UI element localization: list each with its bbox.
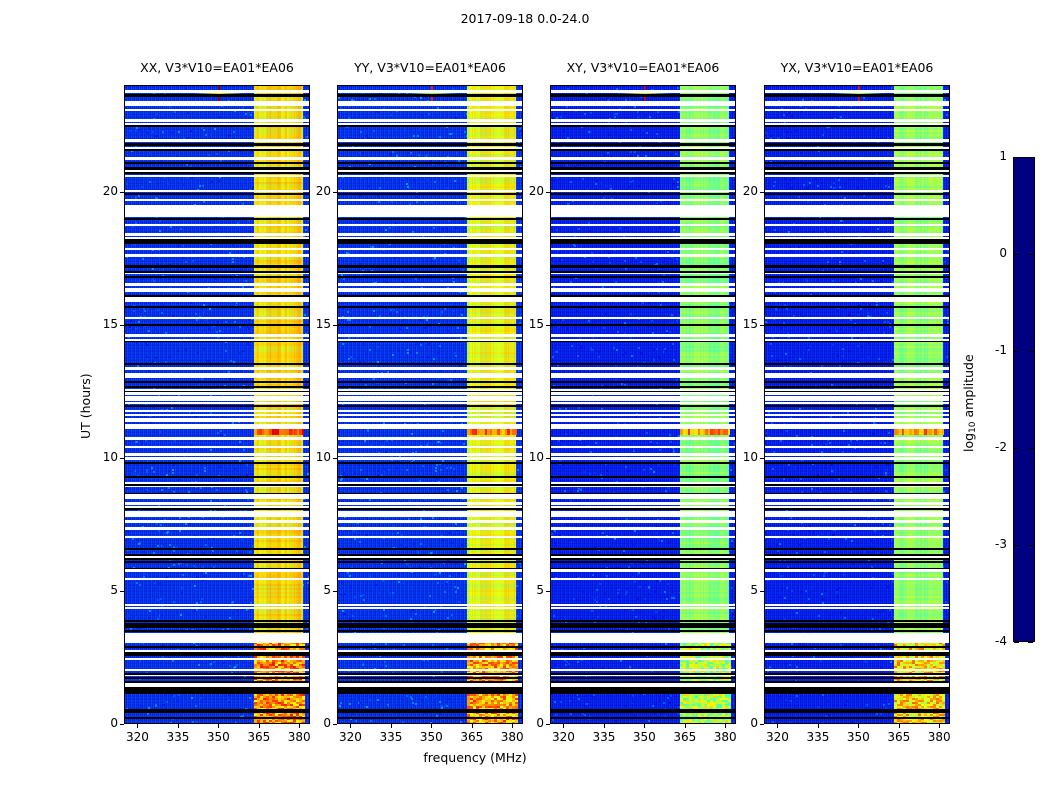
x-tick-mark [472, 724, 473, 728]
y-tick-mark [760, 325, 764, 326]
x-tick-mark [563, 724, 564, 728]
x-tick-mark [604, 724, 605, 728]
x-tick-mark [137, 724, 138, 728]
colorbar-tick-mark [1028, 448, 1033, 449]
y-tick-label: 10 [724, 450, 758, 464]
y-tick-label: 5 [724, 583, 758, 597]
x-tick-label: 350 [411, 730, 451, 744]
y-tick-label: 15 [84, 317, 118, 331]
x-tick-label: 320 [757, 730, 797, 744]
colorbar[interactable] [1013, 157, 1035, 642]
y-tick-label: 20 [297, 184, 331, 198]
spectrum-panel-yy[interactable] [337, 85, 523, 724]
y-tick-label: 10 [510, 450, 544, 464]
y-tick-label: 10 [297, 450, 331, 464]
y-tick-label: 20 [510, 184, 544, 198]
colorbar-gradient [1014, 158, 1034, 641]
y-tick-label: 15 [297, 317, 331, 331]
figure-canvas: 2017-09-18 0.0-24.0 XX, V3*V10=EA01*EA06… [0, 0, 1050, 800]
y-axis-label: UT (hours) [78, 373, 93, 439]
x-tick-mark [218, 724, 219, 728]
flagged-scan-rows [125, 86, 309, 723]
y-tick-mark [333, 724, 337, 725]
colorbar-tick-mark [1028, 254, 1033, 255]
x-axis-label: frequency (MHz) [0, 750, 950, 765]
y-tick-mark [546, 458, 550, 459]
y-tick-label: 5 [297, 583, 331, 597]
y-tick-mark [120, 192, 124, 193]
y-tick-mark [546, 325, 550, 326]
x-tick-label: 320 [117, 730, 157, 744]
x-tick-label: 380 [705, 730, 745, 744]
panel-title-yx: YX, V3*V10=EA01*EA06 [734, 60, 980, 78]
y-tick-mark [546, 591, 550, 592]
colorbar-tick-mark [1028, 545, 1033, 546]
x-tick-mark [259, 724, 260, 728]
x-tick-mark [858, 724, 859, 728]
colorbar-tick-label: -1 [977, 343, 1007, 357]
y-tick-label: 15 [724, 317, 758, 331]
x-tick-label: 335 [371, 730, 411, 744]
y-tick-label: 10 [84, 450, 118, 464]
y-tick-mark [333, 325, 337, 326]
spectrum-panel-xy[interactable] [550, 85, 736, 724]
x-tick-label: 380 [279, 730, 319, 744]
x-tick-label: 335 [584, 730, 624, 744]
x-tick-label: 350 [198, 730, 238, 744]
y-tick-label: 0 [84, 716, 118, 730]
y-tick-mark [120, 325, 124, 326]
y-tick-mark [333, 591, 337, 592]
spectrum-panel-xx[interactable] [124, 85, 310, 724]
colorbar-tick-mark [1014, 642, 1019, 643]
y-tick-mark [546, 192, 550, 193]
colorbar-tick-label: -2 [977, 440, 1007, 454]
x-tick-label: 365 [665, 730, 705, 744]
x-tick-mark [685, 724, 686, 728]
x-tick-mark [644, 724, 645, 728]
y-tick-label: 20 [724, 184, 758, 198]
colorbar-tick-label: 1 [977, 149, 1007, 163]
y-tick-mark [760, 458, 764, 459]
x-tick-label: 350 [838, 730, 878, 744]
colorbar-tick-mark [1014, 351, 1019, 352]
y-tick-mark [120, 591, 124, 592]
x-tick-mark [899, 724, 900, 728]
x-tick-mark [350, 724, 351, 728]
colorbar-tick-mark [1028, 351, 1033, 352]
x-tick-label: 350 [624, 730, 664, 744]
x-tick-label: 380 [919, 730, 959, 744]
panel-title-xx: XX, V3*V10=EA01*EA06 [94, 60, 340, 78]
y-tick-mark [120, 458, 124, 459]
figure-suptitle: 2017-09-18 0.0-24.0 [0, 11, 1050, 26]
y-tick-mark [760, 724, 764, 725]
colorbar-tick-label: -4 [977, 634, 1007, 648]
y-tick-mark [120, 724, 124, 725]
y-tick-label: 0 [297, 716, 331, 730]
y-tick-mark [760, 192, 764, 193]
colorbar-tick-label: -3 [977, 537, 1007, 551]
x-tick-mark [391, 724, 392, 728]
colorbar-tick-mark [1014, 545, 1019, 546]
colorbar-tick-mark [1014, 254, 1019, 255]
flagged-scan-rows [338, 86, 522, 723]
x-tick-label: 380 [492, 730, 532, 744]
x-tick-label: 335 [798, 730, 838, 744]
flagged-scan-rows [551, 86, 735, 723]
x-tick-mark [777, 724, 778, 728]
colorbar-label-subscript: 10 [968, 421, 978, 432]
y-tick-mark [333, 458, 337, 459]
colorbar-tick-mark [1014, 448, 1019, 449]
x-tick-mark [431, 724, 432, 728]
y-tick-label: 20 [84, 184, 118, 198]
colorbar-label-prefix: log [961, 432, 976, 451]
flagged-scan-rows [765, 86, 949, 723]
y-tick-mark [760, 591, 764, 592]
y-tick-label: 15 [510, 317, 544, 331]
x-tick-label: 335 [158, 730, 198, 744]
x-tick-mark [178, 724, 179, 728]
panel-title-xy: XY, V3*V10=EA01*EA06 [520, 60, 766, 78]
panel-title-yy: YY, V3*V10=EA01*EA06 [307, 60, 553, 78]
spectrum-panel-yx[interactable] [764, 85, 950, 724]
x-tick-mark [939, 724, 940, 728]
x-tick-label: 365 [452, 730, 492, 744]
x-tick-mark [818, 724, 819, 728]
y-tick-label: 5 [84, 583, 118, 597]
x-tick-label: 320 [330, 730, 370, 744]
y-tick-mark [333, 192, 337, 193]
x-tick-label: 365 [879, 730, 919, 744]
y-tick-label: 0 [724, 716, 758, 730]
colorbar-tick-label: 0 [977, 246, 1007, 260]
y-tick-label: 0 [510, 716, 544, 730]
x-tick-label: 365 [239, 730, 279, 744]
colorbar-label-suffix: amplitude [961, 354, 976, 421]
x-tick-label: 320 [543, 730, 583, 744]
colorbar-tick-mark [1028, 642, 1033, 643]
colorbar-label: log10 amplitude [961, 354, 978, 452]
y-tick-mark [546, 724, 550, 725]
y-tick-label: 5 [510, 583, 544, 597]
